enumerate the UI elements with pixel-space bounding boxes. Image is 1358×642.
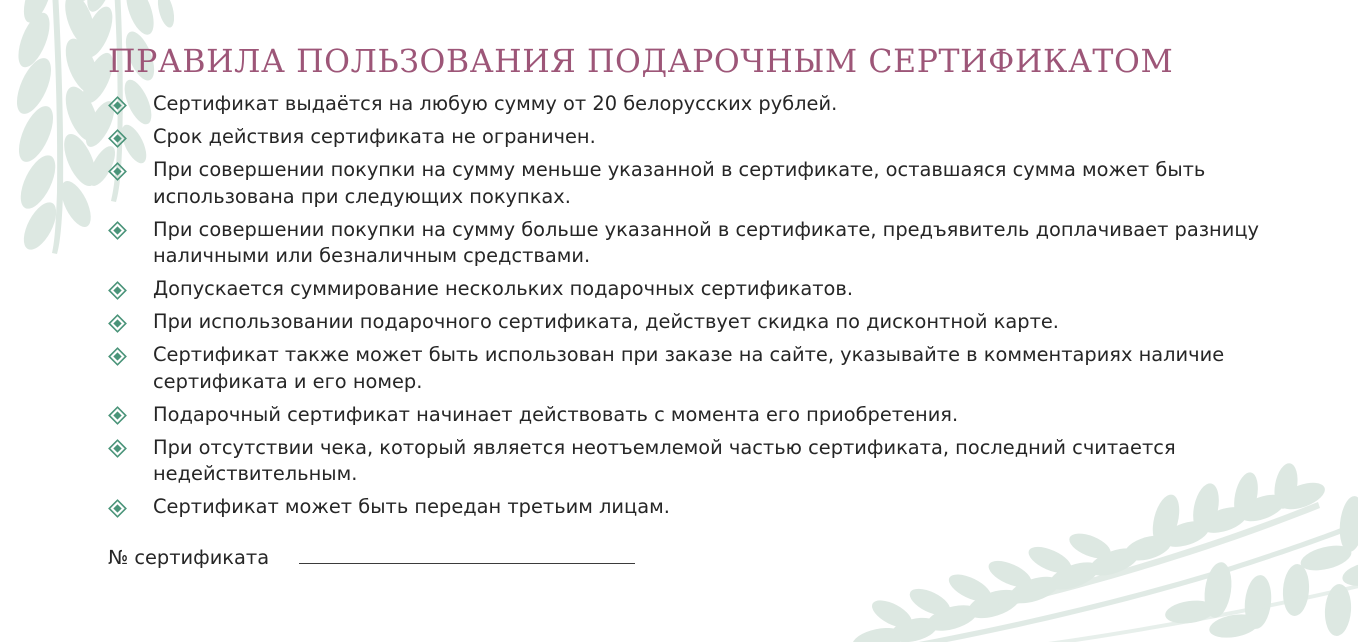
list-item: При совершении покупки на сумму больше у… (108, 217, 1270, 270)
diamond-bullet-icon (108, 281, 127, 300)
rules-list: Сертификат выдаётся на любую сумму от 20… (108, 91, 1272, 521)
list-item-text: При отсутствии чека, который является не… (153, 435, 1270, 488)
list-item: Срок действия сертификата не ограничен. (108, 124, 1270, 151)
list-item: Подарочный сертификат начинает действова… (108, 402, 1270, 429)
page-title: ПРАВИЛА ПОЛЬЗОВАНИЯ ПОДАРОЧНЫМ СЕРТИФИКА… (108, 44, 1272, 80)
list-item: Сертификат также может быть использован … (108, 342, 1270, 395)
list-item-text: Допускается суммирование нескольких пода… (153, 276, 1270, 303)
list-item: При использовании подарочного сертификат… (108, 309, 1270, 336)
diamond-bullet-icon (108, 499, 127, 518)
list-item: Сертификат может быть передан третьим ли… (108, 494, 1270, 521)
diamond-bullet-icon (108, 221, 127, 240)
list-item-text: Сертификат выдаётся на любую сумму от 20… (153, 91, 1270, 118)
diamond-bullet-icon (108, 162, 127, 181)
list-item-text: При совершении покупки на сумму больше у… (153, 217, 1270, 270)
slide-content: ПРАВИЛА ПОЛЬЗОВАНИЯ ПОДАРОЧНЫМ СЕРТИФИКА… (0, 0, 1358, 642)
diamond-bullet-icon (108, 96, 127, 115)
list-item: При отсутствии чека, который является не… (108, 435, 1270, 488)
diamond-bullet-icon (108, 129, 127, 148)
list-item-text: Сертификат также может быть использован … (153, 342, 1270, 395)
list-item: Допускается суммирование нескольких пода… (108, 276, 1270, 303)
list-item-text: Подарочный сертификат начинает действова… (153, 402, 1270, 429)
list-item-text: Сертификат может быть передан третьим ли… (153, 494, 1270, 521)
list-item: Сертификат выдаётся на любую сумму от 20… (108, 91, 1270, 118)
certificate-rules-slide: ПРАВИЛА ПОЛЬЗОВАНИЯ ПОДАРОЧНЫМ СЕРТИФИКА… (0, 0, 1358, 642)
diamond-bullet-icon (108, 406, 127, 425)
diamond-bullet-icon (108, 347, 127, 366)
diamond-bullet-icon (108, 439, 127, 458)
list-item: При совершении покупки на сумму меньше у… (108, 157, 1270, 210)
list-item-text: При совершении покупки на сумму меньше у… (153, 157, 1270, 210)
diamond-bullet-icon (108, 314, 127, 333)
list-item-text: Срок действия сертификата не ограничен. (153, 124, 1270, 151)
certificate-number-label: № сертификата (108, 547, 269, 569)
certificate-number-row: № сертификата (108, 547, 1272, 569)
list-item-text: При использовании подарочного сертификат… (153, 309, 1270, 336)
certificate-number-write-in-line[interactable] (299, 563, 635, 564)
